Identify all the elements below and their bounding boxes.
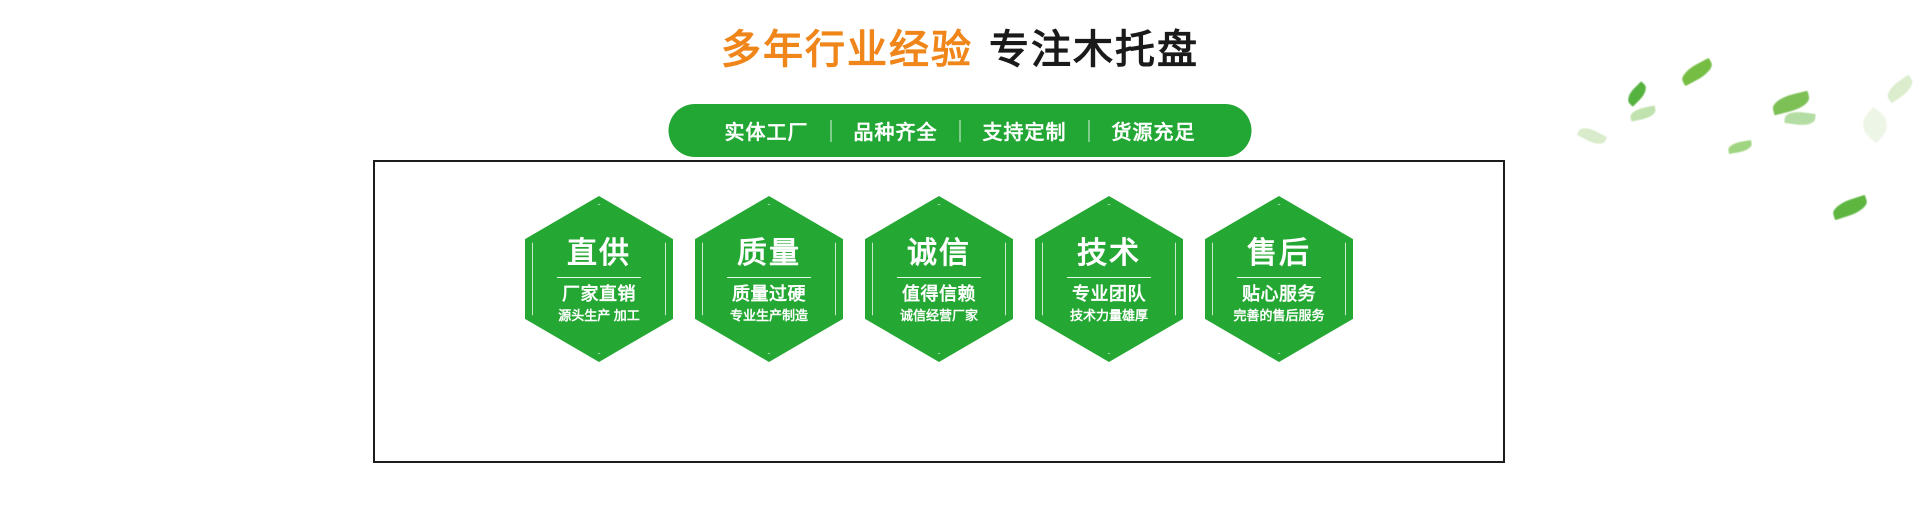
leaf-icon [1727,140,1752,154]
leaf-icon [1884,75,1917,104]
hexagon-badge-1: 质量 质量过硬 专业生产制造 [695,196,843,362]
hexagon-description: 专业生产制造 [727,308,811,325]
leaf-icon [1771,91,1812,116]
hexagon-description: 技术力量雄厚 [1067,308,1151,325]
leaf-icon [1857,107,1894,144]
pill-item-3: 货源充足 [1090,116,1218,145]
hexagon-content: 诚信 值得信赖 诚信经营厂家 [897,233,981,325]
leaf-icon [1629,105,1657,121]
hexagon-badge-2: 诚信 值得信赖 诚信经营厂家 [865,196,1013,362]
hexagon-badge-4: 售后 贴心服务 完善的售后服务 [1205,196,1353,362]
leaf-icon [1831,195,1870,220]
hexagon-content: 售后 贴心服务 完善的售后服务 [1233,233,1324,325]
leaf-icon [1577,124,1607,148]
hexagon-divider [1237,277,1321,278]
hexagon-description: 源头生产 加工 [557,308,641,325]
leaf-icon [1624,81,1649,106]
pill-item-0: 实体工厂 [703,116,831,145]
hexagon-subtitle: 贴心服务 [1233,284,1324,306]
hexagon-description: 完善的售后服务 [1233,308,1324,325]
hexagon-subtitle: 厂家直销 [557,284,641,306]
hexagon-divider [1067,277,1151,278]
headline-dark-text: 专注木托盘 [989,28,1199,72]
hexagon-divider [897,277,981,278]
hexagon-badge-row: 直供 厂家直销 源头生产 加工 质量 质量过硬 专业生产制造 诚信 值得信赖 诚… [373,196,1505,376]
feature-pill: 实体工厂 品种齐全 支持定制 货源充足 [669,104,1252,157]
hexagon-divider [557,277,641,278]
pill-item-2: 支持定制 [961,116,1089,145]
hexagon-title: 质量 [727,237,811,270]
headline-orange-text: 多年行业经验 [721,28,973,72]
hexagon-subtitle: 质量过硬 [727,284,811,306]
hexagon-description: 诚信经营厂家 [897,308,981,325]
page-title: 多年行业经验专注木托盘 [0,30,1920,70]
hexagon-subtitle: 专业团队 [1067,284,1151,306]
hexagon-divider [727,277,811,278]
promo-banner: 多年行业经验专注木托盘 实体工厂 品种齐全 支持定制 货源充足 直供 厂家直销 … [0,0,1920,509]
hexagon-content: 质量 质量过硬 专业生产制造 [727,233,811,325]
hexagon-title: 技术 [1067,237,1151,270]
pill-item-1: 品种齐全 [832,116,960,145]
hexagon-badge-0: 直供 厂家直销 源头生产 加工 [525,196,673,362]
hexagon-title: 诚信 [897,237,981,270]
hexagon-content: 直供 厂家直销 源头生产 加工 [557,233,641,325]
hexagon-subtitle: 值得信赖 [897,284,981,306]
hexagon-badge-3: 技术 专业团队 技术力量雄厚 [1035,196,1183,362]
hexagon-content: 技术 专业团队 技术力量雄厚 [1067,233,1151,325]
hexagon-title: 售后 [1233,237,1324,270]
leaf-icon [1784,110,1816,127]
hexagon-title: 直供 [557,237,641,270]
